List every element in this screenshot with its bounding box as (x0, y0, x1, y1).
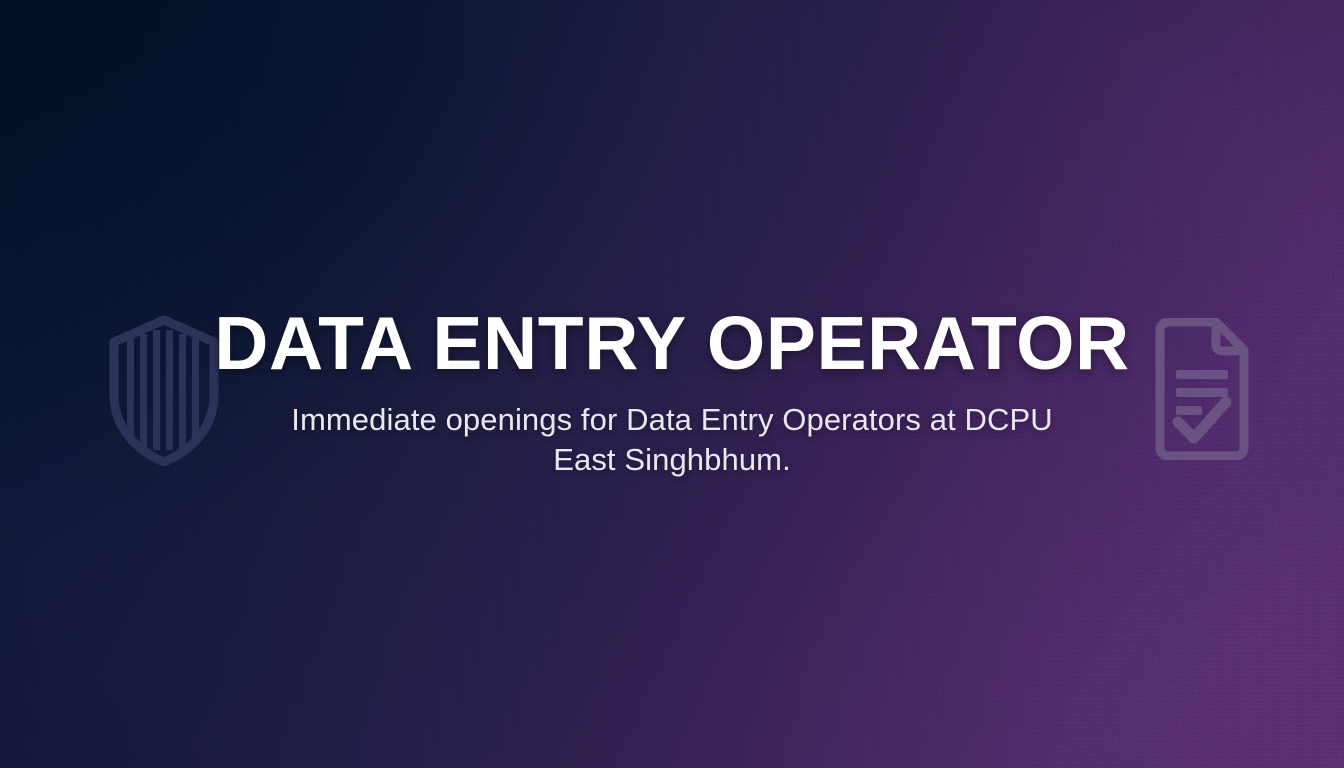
promo-banner: DATA ENTRY OPERATOR Immediate openings f… (0, 0, 1344, 768)
page-subtitle: Immediate openings for Data Entry Operat… (262, 400, 1082, 480)
banner-content: DATA ENTRY OPERATOR Immediate openings f… (0, 300, 1344, 480)
page-title: DATA ENTRY OPERATOR (0, 300, 1344, 386)
